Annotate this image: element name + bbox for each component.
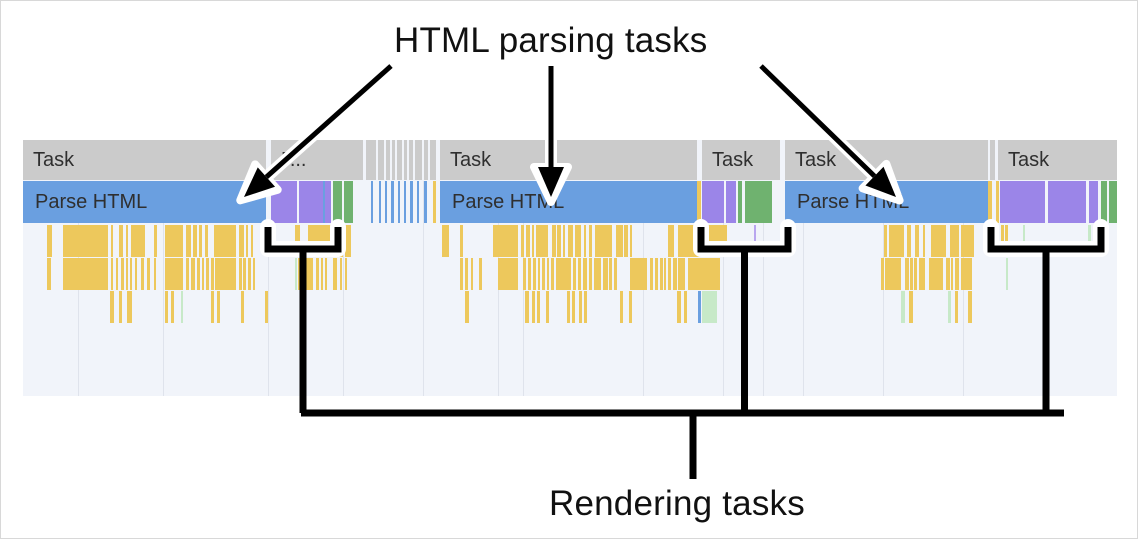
flame-bar[interactable] bbox=[186, 225, 191, 257]
flame-bar[interactable] bbox=[955, 225, 959, 257]
flame-bar[interactable] bbox=[442, 225, 449, 257]
flame-bar[interactable] bbox=[498, 258, 518, 290]
flame-bar[interactable] bbox=[556, 258, 571, 290]
task-block[interactable]: Task bbox=[440, 140, 697, 180]
flame-bar[interactable] bbox=[116, 258, 118, 290]
flame-bar[interactable] bbox=[63, 258, 108, 290]
flame-bar[interactable] bbox=[668, 258, 671, 290]
flame-bar[interactable] bbox=[961, 258, 972, 290]
flame-bar[interactable] bbox=[127, 291, 132, 323]
activity-segment[interactable] bbox=[417, 181, 419, 223]
flame-bar[interactable] bbox=[246, 225, 248, 257]
flame-bar[interactable] bbox=[915, 225, 919, 257]
flame-bar[interactable] bbox=[684, 291, 687, 323]
flame-bar[interactable] bbox=[754, 225, 756, 257]
flame-bar[interactable] bbox=[547, 258, 549, 290]
flame-bar[interactable] bbox=[702, 291, 717, 323]
task-block-label: Task bbox=[795, 149, 836, 172]
flame-bar[interactable] bbox=[239, 258, 242, 290]
flame-bar[interactable] bbox=[111, 258, 113, 290]
flame-bar[interactable] bbox=[199, 225, 202, 257]
activity-segment[interactable] bbox=[702, 181, 724, 223]
flame-bar[interactable] bbox=[668, 225, 674, 257]
task-block-label: Task bbox=[33, 149, 74, 172]
flame-bar[interactable] bbox=[265, 291, 268, 323]
flame-bar[interactable] bbox=[316, 258, 319, 290]
flame-bar[interactable] bbox=[523, 258, 526, 290]
activity-segment[interactable] bbox=[344, 181, 353, 223]
parse-html-segment[interactable]: Parse HTML bbox=[785, 181, 988, 223]
flame-bar[interactable] bbox=[650, 258, 653, 290]
flame-bar[interactable] bbox=[923, 258, 925, 290]
flame-bar[interactable] bbox=[660, 258, 663, 290]
activity-segment[interactable] bbox=[325, 181, 331, 223]
task-block[interactable]: Task bbox=[785, 140, 988, 180]
flame-bar[interactable] bbox=[205, 225, 208, 257]
flame-bar[interactable] bbox=[664, 258, 666, 290]
flame-bar[interactable] bbox=[905, 258, 909, 290]
flame-bar[interactable] bbox=[110, 291, 114, 323]
flame-bar[interactable] bbox=[295, 258, 297, 290]
flame-bar[interactable] bbox=[629, 291, 632, 323]
flame-bar[interactable] bbox=[119, 225, 123, 257]
flame-bar[interactable] bbox=[126, 258, 128, 290]
flame-bar[interactable] bbox=[677, 291, 681, 323]
flame-bar[interactable] bbox=[217, 291, 220, 323]
flame-bar[interactable] bbox=[673, 258, 677, 290]
activity-segment[interactable] bbox=[398, 181, 400, 223]
flame-bar[interactable] bbox=[479, 258, 482, 290]
flame-bar[interactable] bbox=[885, 258, 901, 290]
task-block-label: Task bbox=[712, 149, 753, 172]
flame-bar[interactable] bbox=[552, 225, 556, 257]
task-block[interactable] bbox=[386, 140, 390, 180]
flame-bar[interactable] bbox=[211, 291, 214, 323]
flame-bar[interactable] bbox=[1006, 258, 1008, 290]
flame-bar[interactable] bbox=[951, 258, 953, 290]
flame-bar[interactable] bbox=[532, 291, 535, 323]
flame-bar[interactable] bbox=[614, 258, 617, 290]
activity-segment[interactable] bbox=[404, 181, 406, 223]
flame-bar[interactable] bbox=[1088, 225, 1091, 257]
flame-bar[interactable] bbox=[339, 225, 343, 257]
activity-segment[interactable] bbox=[379, 181, 381, 223]
parse-html-label: Parse HTML bbox=[797, 191, 909, 214]
flame-bar[interactable] bbox=[546, 291, 549, 323]
task-block[interactable] bbox=[409, 140, 413, 180]
activity-segment[interactable] bbox=[996, 181, 999, 223]
task-block[interactable] bbox=[404, 140, 407, 180]
flame-bar[interactable] bbox=[630, 225, 632, 257]
flame-bar[interactable] bbox=[594, 258, 601, 290]
flame-bar[interactable] bbox=[688, 258, 720, 290]
flame-bar[interactable] bbox=[340, 258, 342, 290]
flame-bar[interactable] bbox=[603, 258, 608, 290]
flame-bar[interactable] bbox=[655, 258, 658, 290]
flame-bar[interactable] bbox=[197, 258, 200, 290]
activity-segment[interactable] bbox=[726, 181, 736, 223]
task-header-row[interactable]: TaskΓ...TaskTaskTaskTask bbox=[23, 140, 1117, 180]
flame-bar[interactable] bbox=[698, 291, 701, 323]
flame-bar[interactable] bbox=[595, 225, 612, 257]
task-block-label: Task bbox=[1008, 149, 1049, 172]
flame-bar[interactable] bbox=[325, 258, 327, 290]
flame-bar[interactable] bbox=[211, 258, 214, 290]
task-block[interactable]: Task bbox=[998, 140, 1117, 180]
flame-bar[interactable] bbox=[141, 258, 144, 290]
activity-segment[interactable] bbox=[1000, 181, 1045, 223]
flame-bar[interactable] bbox=[528, 258, 531, 290]
activity-segment[interactable] bbox=[333, 181, 342, 223]
flame-bar[interactable] bbox=[241, 291, 244, 323]
flame-bar[interactable] bbox=[533, 258, 536, 290]
flame-bar[interactable] bbox=[526, 225, 530, 257]
activity-segment[interactable] bbox=[385, 181, 387, 223]
screenshot-root: HTML parsing tasks Rendering tasks TaskΓ… bbox=[0, 0, 1138, 539]
flame-bar[interactable] bbox=[165, 225, 183, 257]
flame-bar[interactable] bbox=[575, 225, 581, 257]
task-block-label: Γ... bbox=[281, 149, 307, 172]
activity-segment[interactable] bbox=[353, 181, 366, 223]
flame-bar[interactable] bbox=[295, 225, 300, 257]
flame-bar[interactable] bbox=[583, 258, 587, 290]
flame-bar[interactable] bbox=[119, 291, 122, 323]
flame-bar[interactable] bbox=[186, 258, 189, 290]
flame-bar[interactable] bbox=[881, 258, 884, 290]
flame-bar[interactable] bbox=[154, 258, 156, 290]
flame-bar[interactable] bbox=[206, 258, 209, 290]
flame-bar[interactable] bbox=[135, 258, 137, 290]
flame-bar[interactable] bbox=[620, 291, 623, 323]
flame-bar[interactable] bbox=[725, 225, 727, 257]
flame-bar[interactable] bbox=[273, 225, 275, 257]
flame-bar[interactable] bbox=[165, 291, 168, 323]
flame-row[interactable] bbox=[23, 225, 1117, 257]
flame-bar[interactable] bbox=[551, 258, 554, 290]
flame-bar[interactable] bbox=[901, 291, 905, 323]
activity-segment[interactable] bbox=[299, 181, 323, 223]
flame-bar[interactable] bbox=[624, 225, 628, 257]
flame-bar[interactable] bbox=[47, 258, 51, 290]
flame-bar[interactable] bbox=[460, 225, 463, 257]
flame-bar[interactable] bbox=[563, 225, 565, 257]
flame-bar[interactable] bbox=[578, 258, 581, 290]
main-activity-row[interactable]: Parse HTMLParse HTMLParse HTML bbox=[23, 181, 1117, 223]
flame-bar[interactable] bbox=[171, 291, 174, 323]
flame-bar[interactable] bbox=[630, 258, 647, 290]
task-block[interactable] bbox=[378, 140, 384, 180]
flame-bar[interactable] bbox=[678, 225, 726, 257]
task-block[interactable]: Γ... bbox=[271, 140, 363, 180]
flame-bar[interactable] bbox=[191, 258, 195, 290]
activity-segment[interactable] bbox=[391, 181, 394, 223]
parse-html-segment[interactable]: Parse HTML bbox=[23, 181, 266, 223]
flame-bar[interactable] bbox=[1005, 225, 1008, 257]
task-block[interactable]: Task bbox=[702, 140, 780, 180]
parse-html-label: Parse HTML bbox=[35, 191, 147, 214]
activity-segment[interactable] bbox=[371, 181, 373, 223]
flame-bar[interactable] bbox=[579, 291, 582, 323]
flame-bar[interactable] bbox=[910, 258, 913, 290]
parse-html-label: Parse HTML bbox=[452, 191, 564, 214]
flame-bar[interactable] bbox=[131, 225, 145, 257]
flame-bar[interactable] bbox=[948, 291, 951, 323]
flame-bar[interactable] bbox=[165, 258, 183, 290]
flame-bar[interactable] bbox=[248, 258, 251, 290]
flame-bar[interactable] bbox=[1023, 225, 1025, 257]
activity-segment[interactable] bbox=[433, 181, 436, 223]
activity-segment[interactable] bbox=[772, 181, 785, 223]
flame-bar[interactable] bbox=[931, 225, 946, 257]
activity-segment[interactable] bbox=[410, 181, 413, 223]
flame-bar[interactable] bbox=[521, 225, 524, 257]
flame-row[interactable] bbox=[23, 258, 1117, 290]
flame-bar[interactable] bbox=[678, 258, 685, 290]
flame-bar[interactable] bbox=[525, 291, 529, 323]
flame-bar[interactable] bbox=[589, 225, 592, 257]
flame-bar[interactable] bbox=[884, 225, 887, 257]
flame-bar[interactable] bbox=[63, 225, 108, 257]
flame-bar[interactable] bbox=[126, 225, 128, 257]
flame-bar[interactable] bbox=[181, 291, 183, 323]
task-block[interactable] bbox=[430, 140, 436, 180]
flame-bar[interactable] bbox=[532, 225, 534, 257]
flame-bar[interactable] bbox=[584, 291, 587, 323]
flame-bar[interactable] bbox=[47, 225, 52, 257]
flame-bar[interactable] bbox=[345, 258, 347, 290]
activity-segment[interactable] bbox=[1109, 181, 1117, 223]
activity-segment[interactable] bbox=[271, 181, 297, 223]
flame-bar[interactable] bbox=[239, 225, 244, 257]
flame-row[interactable] bbox=[23, 291, 1117, 323]
flame-bar[interactable] bbox=[333, 258, 337, 290]
flame-bar[interactable] bbox=[345, 225, 351, 257]
activity-segment[interactable] bbox=[1089, 181, 1098, 223]
flame-bar[interactable] bbox=[321, 258, 323, 290]
flame-bar[interactable] bbox=[955, 258, 959, 290]
flame-bar[interactable] bbox=[130, 258, 132, 290]
flame-bar[interactable] bbox=[538, 258, 540, 290]
flame-bar[interactable] bbox=[961, 225, 974, 257]
flame-bar[interactable] bbox=[572, 291, 575, 323]
task-block[interactable] bbox=[366, 140, 376, 180]
flame-bar[interactable] bbox=[568, 225, 573, 257]
flame-bar[interactable] bbox=[251, 225, 253, 257]
flame-bar[interactable] bbox=[929, 258, 943, 290]
flame-bar[interactable] bbox=[923, 225, 925, 257]
flame-bar[interactable] bbox=[557, 225, 561, 257]
rendering-tasks-caption: Rendering tasks bbox=[549, 484, 805, 524]
flame-bar[interactable] bbox=[783, 225, 785, 257]
flame-bar[interactable] bbox=[111, 225, 113, 257]
flame-bar[interactable] bbox=[946, 258, 950, 290]
flame-bar[interactable] bbox=[914, 258, 917, 290]
flame-bar[interactable] bbox=[955, 291, 958, 323]
flame-bar[interactable] bbox=[202, 258, 204, 290]
flame-bar[interactable] bbox=[308, 225, 336, 257]
flame-bar[interactable] bbox=[465, 258, 468, 290]
flame-bar[interactable] bbox=[542, 258, 545, 290]
task-block[interactable] bbox=[392, 140, 395, 180]
flame-bar[interactable] bbox=[193, 225, 197, 257]
task-block[interactable] bbox=[990, 140, 995, 180]
flame-bar[interactable] bbox=[1001, 225, 1004, 257]
flame-bar[interactable] bbox=[609, 258, 612, 290]
flame-bar[interactable] bbox=[589, 258, 592, 290]
flame-bar[interactable] bbox=[460, 258, 463, 290]
activity-segment[interactable] bbox=[1048, 181, 1086, 223]
flame-bar[interactable] bbox=[573, 258, 576, 290]
flame-bar[interactable] bbox=[154, 225, 157, 257]
task-block-label: Task bbox=[450, 149, 491, 172]
flame-bar[interactable] bbox=[909, 291, 913, 323]
task-block[interactable] bbox=[415, 140, 422, 180]
flame-bar[interactable] bbox=[493, 225, 518, 257]
performance-timeline-panel[interactable]: TaskΓ...TaskTaskTaskTask Parse HTMLParse… bbox=[23, 140, 1117, 396]
flame-bar[interactable] bbox=[567, 291, 570, 323]
flame-bar[interactable] bbox=[121, 258, 124, 290]
flame-bar[interactable] bbox=[253, 258, 255, 290]
flame-bar[interactable] bbox=[215, 258, 236, 290]
parse-html-segment[interactable]: Parse HTML bbox=[440, 181, 697, 223]
flame-bar[interactable] bbox=[465, 291, 469, 323]
flame-bar[interactable] bbox=[298, 258, 313, 290]
flame-bar[interactable] bbox=[907, 225, 911, 257]
flame-bar[interactable] bbox=[968, 291, 972, 323]
activity-segment[interactable] bbox=[697, 181, 701, 223]
flame-bar[interactable] bbox=[536, 225, 548, 257]
flame-bar[interactable] bbox=[537, 291, 540, 323]
html-parsing-tasks-caption: HTML parsing tasks bbox=[394, 21, 708, 61]
flame-bar[interactable] bbox=[889, 225, 904, 257]
task-block[interactable]: Task bbox=[23, 140, 266, 180]
flame-bar[interactable] bbox=[214, 225, 236, 257]
flame-bar[interactable] bbox=[584, 225, 586, 257]
flame-bar[interactable] bbox=[619, 225, 622, 257]
task-block[interactable] bbox=[397, 140, 402, 180]
activity-segment[interactable] bbox=[745, 181, 772, 223]
flame-bar[interactable] bbox=[147, 258, 150, 290]
activity-segment[interactable] bbox=[424, 181, 427, 223]
flame-bar[interactable] bbox=[243, 258, 246, 290]
task-block[interactable] bbox=[424, 140, 428, 180]
flame-bar[interactable] bbox=[471, 258, 473, 290]
